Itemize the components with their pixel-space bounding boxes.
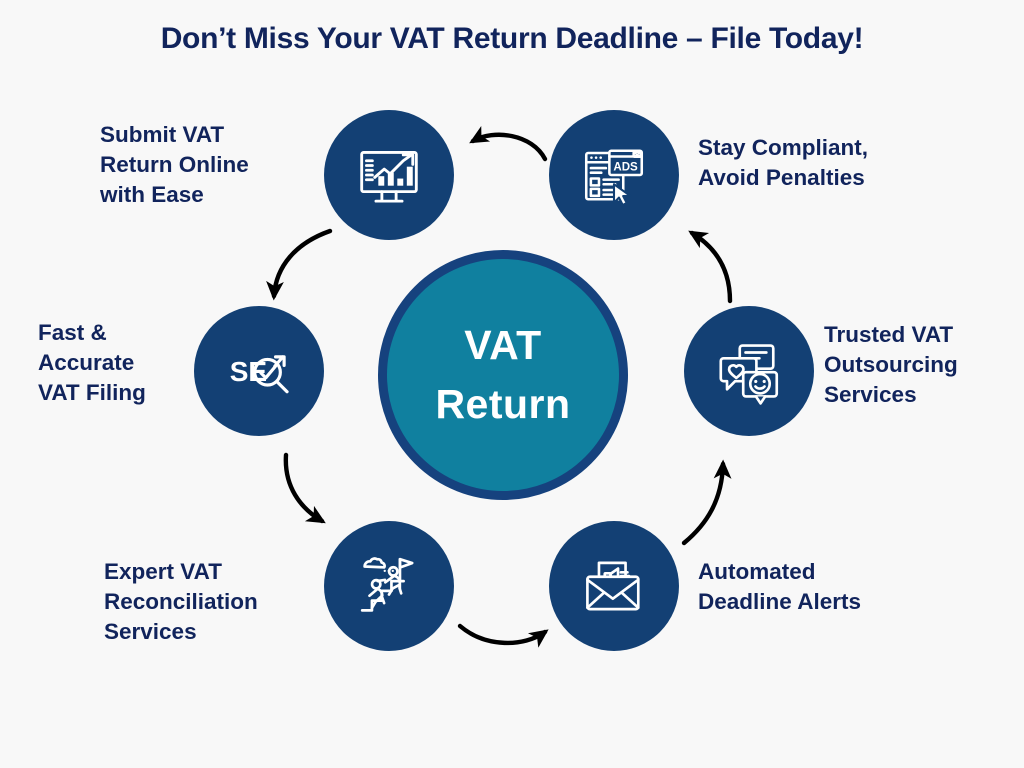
node-automated-deadline-alerts[interactable] — [549, 521, 679, 651]
hub-line-2: Return — [435, 375, 570, 434]
seo-magnifier-arrow-icon: SE — [220, 332, 298, 410]
label-trusted-vat-outsourcing: Trusted VAT Outsourcing Services — [824, 320, 1024, 410]
label-expert-vat-reconciliation: Expert VAT Reconciliation Services — [104, 557, 324, 647]
arrow-expert-to-automated — [460, 626, 545, 643]
label-submit-vat-return-online: Submit VAT Return Online with Ease — [100, 120, 315, 210]
label-automated-deadline-alerts: Automated Deadline Alerts — [698, 557, 998, 617]
chat-bubbles-heart-smiley-icon — [712, 334, 786, 408]
node-trusted-vat-outsourcing[interactable] — [684, 306, 814, 436]
svg-text:ADS: ADS — [613, 161, 638, 173]
node-expert-vat-reconciliation[interactable] — [324, 521, 454, 651]
node-submit-vat-return-online[interactable] — [324, 110, 454, 240]
center-hub-vat-return: VAT Return — [378, 250, 628, 500]
arrow-automated-to-trusted — [684, 464, 723, 543]
arrow-compliant-to-submit — [473, 135, 545, 159]
arrow-trusted-to-compliant — [692, 233, 730, 301]
infographic-canvas: Don’t Miss Your VAT Return Deadline – Fi… — [0, 0, 1024, 768]
node-stay-compliant[interactable]: ADS — [549, 110, 679, 240]
node-fast-accurate-vat-filing[interactable]: SE — [194, 306, 324, 436]
teamwork-climb-flag-icon — [350, 547, 428, 625]
arrow-submit-to-fast — [274, 231, 330, 296]
arrow-fast-to-expert — [286, 455, 322, 521]
monitor-growth-chart-icon — [351, 137, 427, 213]
page-title: Don’t Miss Your VAT Return Deadline – Fi… — [0, 22, 1024, 56]
label-stay-compliant: Stay Compliant, Avoid Penalties — [698, 133, 998, 193]
envelope-megaphone-icon — [577, 549, 651, 623]
ads-window-cursor-icon: ADS — [577, 138, 651, 212]
label-fast-accurate-vat-filing: Fast & Accurate VAT Filing — [38, 318, 188, 408]
hub-line-1: VAT — [464, 316, 541, 375]
